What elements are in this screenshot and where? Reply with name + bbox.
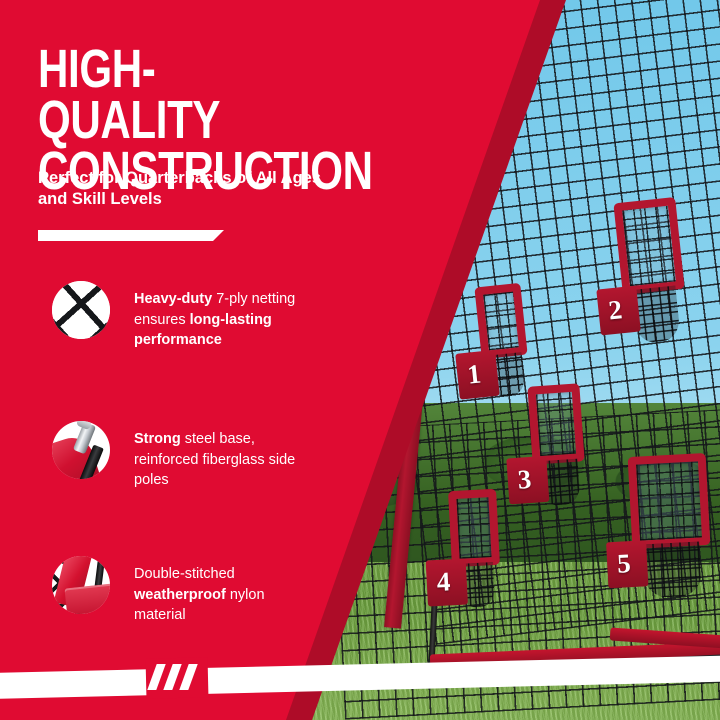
feature-text-nylon: Double-stitched weatherproof nylon mater… — [134, 556, 320, 626]
target-frame — [474, 283, 527, 359]
steel-base-pole-icon — [52, 421, 110, 479]
stitched-pocket-detail — [64, 584, 110, 614]
net-mesh-detail — [52, 281, 110, 339]
target-number-label: 4 — [436, 566, 451, 598]
feature-text-netting: Heavy-duty 7-ply netting ensures long-la… — [134, 281, 320, 351]
target-number-label: 2 — [607, 294, 624, 326]
target-pocket-5: 5 — [628, 453, 711, 549]
headline-line-1: HIGH-QUALITY — [38, 39, 220, 150]
target-pocket-1: 1 — [474, 283, 527, 359]
target-number-label: 5 — [616, 548, 631, 580]
netting-closeup-icon — [52, 281, 110, 339]
feature-text-base: Strong steel base, reinforced fiberglass… — [134, 421, 320, 491]
product-feature-banner: SPORT NETS 1 2 3 4 — [0, 0, 720, 720]
target-pocket-2: 2 — [613, 197, 684, 295]
subheadline: Perfect for Quarterbacks of All Ages and… — [38, 168, 338, 210]
title-divider-bar — [38, 230, 224, 241]
target-frame — [527, 383, 584, 464]
nylon-fabric-icon — [52, 556, 110, 614]
target-sock — [643, 542, 702, 598]
feature-item-netting: Heavy-duty 7-ply netting ensures long-la… — [52, 281, 320, 351]
feature-item-base: Strong steel base, reinforced fiberglass… — [52, 421, 320, 491]
target-number-label: 3 — [517, 464, 533, 496]
target-frame — [448, 489, 500, 567]
target-number-label: 1 — [466, 358, 483, 390]
target-pocket-3: 3 — [527, 383, 584, 464]
feature-item-nylon: Double-stitched weatherproof nylon mater… — [52, 556, 320, 626]
target-frame — [613, 197, 684, 295]
target-pocket-4: 4 — [448, 489, 500, 567]
target-frame — [628, 453, 711, 549]
